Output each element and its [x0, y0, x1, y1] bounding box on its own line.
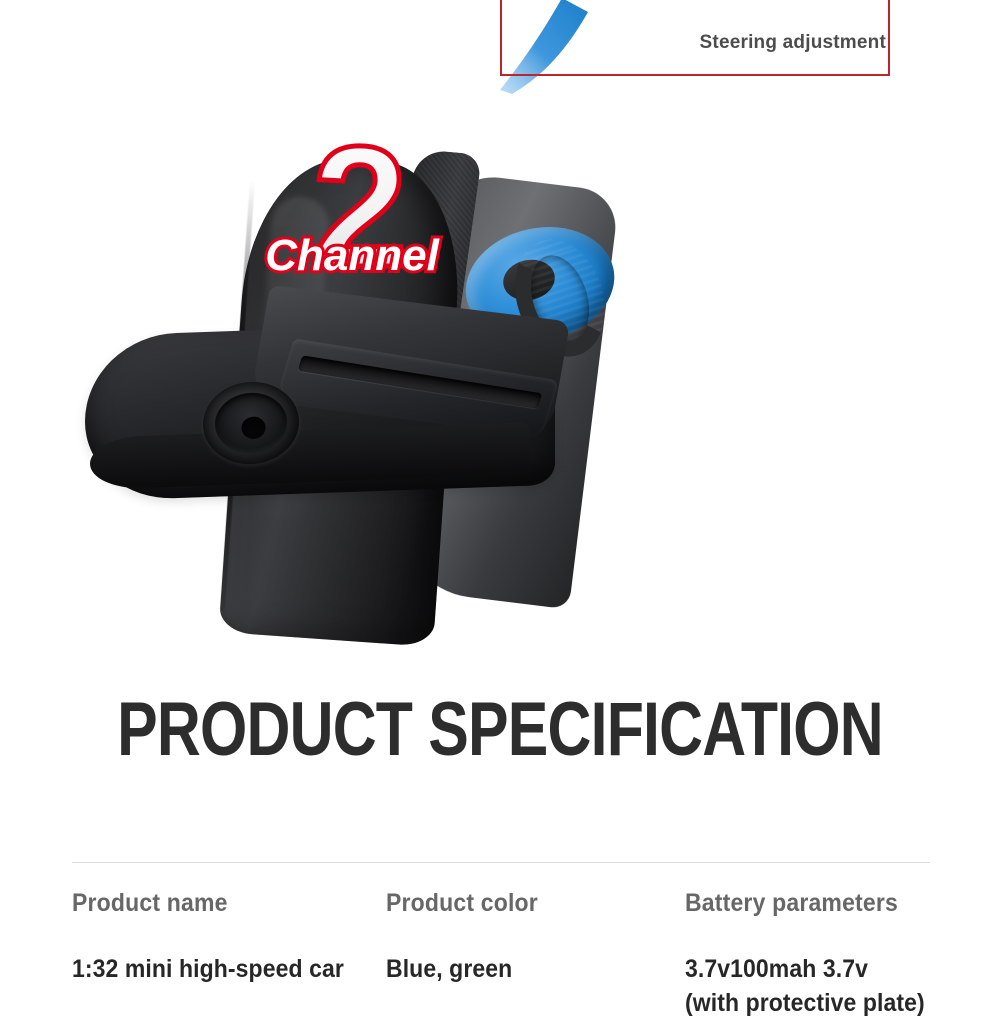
- spec-columns: Product name 1:32 mini high-speed car Pr…: [72, 889, 930, 1020]
- spec-column-product-name: Product name 1:32 mini high-speed car: [72, 889, 386, 1020]
- product-photo: Steering adjustment 2 Channel: [0, 0, 1000, 660]
- spec-value-battery: 3.7v100mah 3.7v (with protective plate): [685, 952, 910, 1020]
- spec-value-product-name: 1:32 mini high-speed car: [72, 952, 361, 986]
- two-channel-badge: 2 Channel: [268, 118, 448, 293]
- badge-word-outline: Channel: [265, 231, 439, 280]
- spec-value-battery-line2: (with protective plate): [685, 989, 925, 1017]
- spec-label-product-color: Product color: [386, 889, 661, 918]
- spec-column-battery: Battery parameters 3.7v100mah 3.7v (with…: [685, 889, 930, 1020]
- transmitter-port-hole: [240, 416, 266, 440]
- spec-column-product-color: Product color Blue, green: [386, 889, 685, 1020]
- spec-value-battery-line1: 3.7v100mah 3.7v: [685, 955, 868, 983]
- spec-label-battery: Battery parameters: [685, 889, 910, 918]
- page-title: PRODUCT SPECIFICATION: [100, 688, 900, 772]
- spec-label-product-name: Product name: [72, 889, 361, 918]
- transmitter-image: [85, 300, 555, 495]
- table-divider: [72, 862, 930, 863]
- steering-arc-icon: [492, 0, 612, 96]
- steering-callout-label: Steering adjustment: [700, 32, 886, 54]
- steering-callout-box: Steering adjustment: [500, 0, 890, 76]
- specification-table: Product name 1:32 mini high-speed car Pr…: [72, 862, 930, 1020]
- transmitter-port-ring: [212, 389, 290, 456]
- spec-value-product-color: Blue, green: [386, 952, 661, 986]
